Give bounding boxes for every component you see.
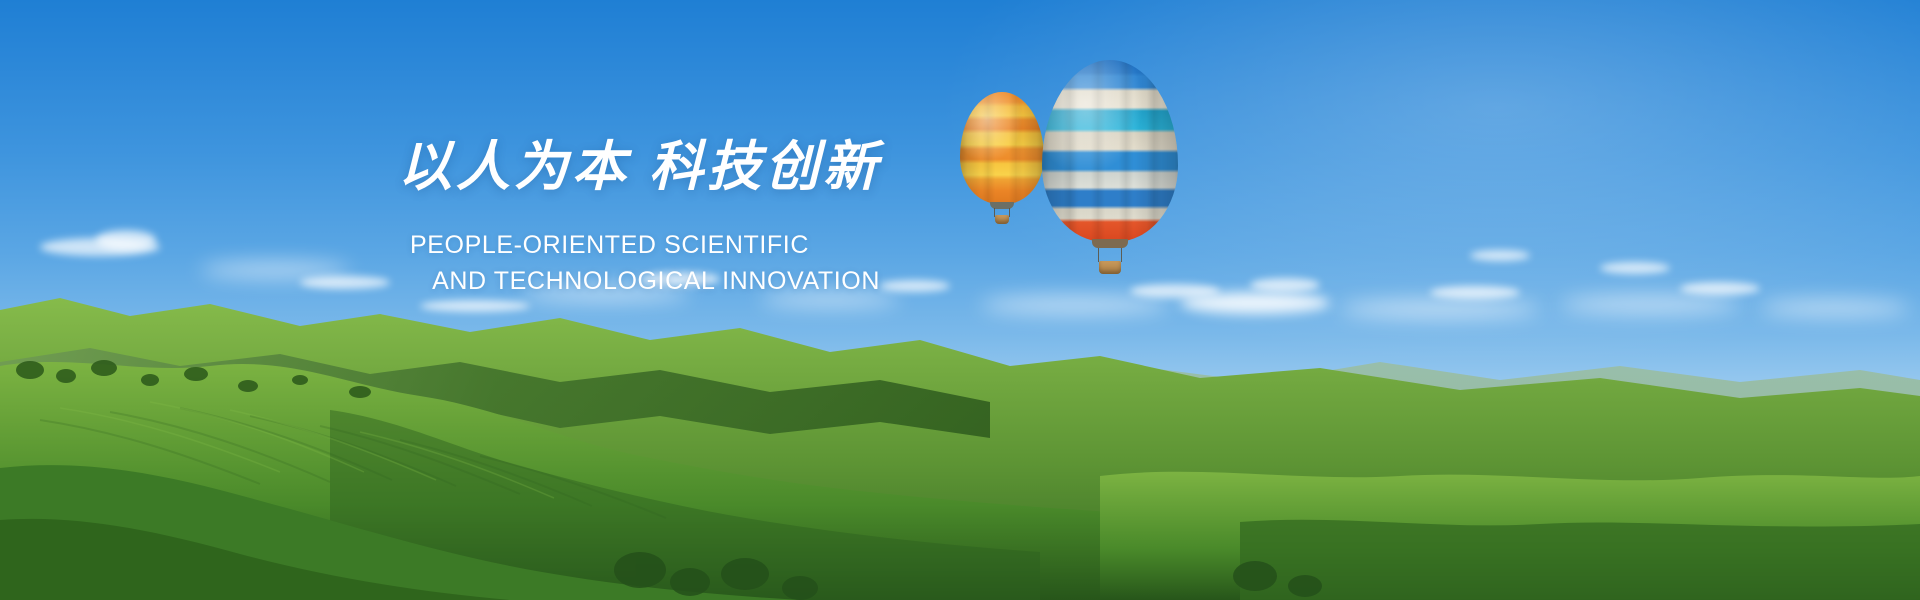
banner-subtitle: PEOPLE-ORIENTED SCIENTIFIC AND TECHNOLOG…: [410, 228, 880, 299]
subtitle-line-2: AND TECHNOLOGICAL INNOVATION: [410, 264, 880, 300]
hero-banner: orange hot air balloon blue hot air ball…: [0, 0, 1920, 600]
banner-copy: 以人为本 科技创新 PEOPLE-ORIENTED SCIENTIFIC AND…: [0, 0, 1920, 600]
page-title: 以人为本 科技创新: [398, 140, 881, 194]
subtitle-line-1: PEOPLE-ORIENTED SCIENTIFIC: [410, 228, 880, 264]
